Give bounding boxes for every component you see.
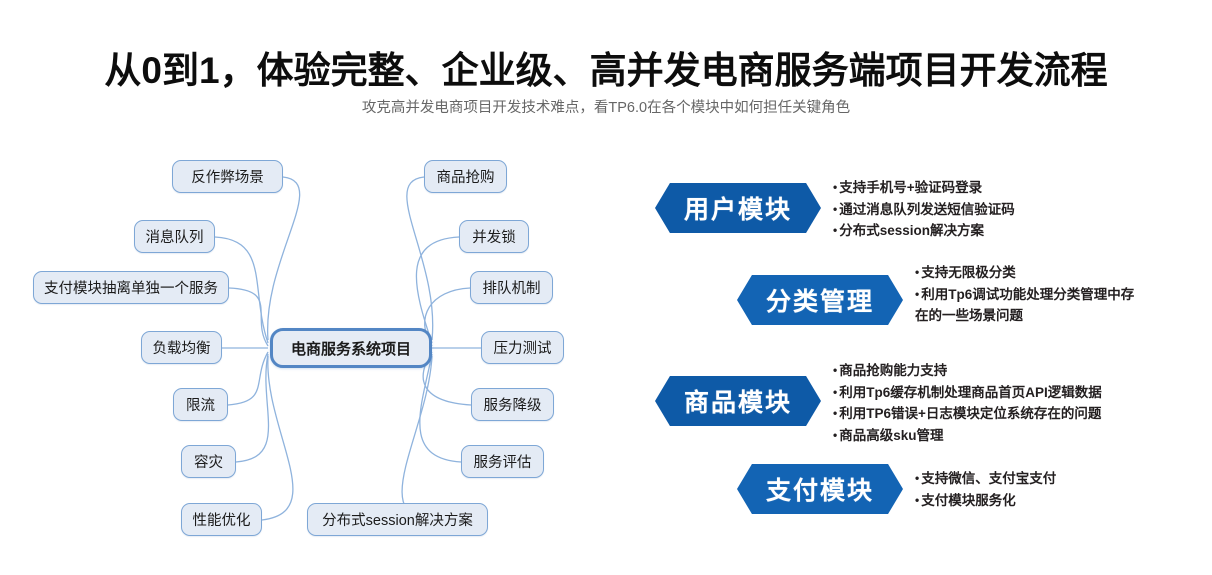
bullet-item: 分布式session解决方案: [833, 220, 1133, 242]
page-subtitle: 攻克高并发电商项目开发技术难点，看TP6.0在各个模块中如何担任关键角色: [0, 96, 1212, 117]
mindmap-node-distributed-session[interactable]: 分布式session解决方案: [307, 503, 488, 536]
bullet-item: 通过消息队列发送短信验证码: [833, 199, 1133, 221]
bullet-item: 利用Tp6缓存机制处理商品首页API逻辑数据: [833, 382, 1163, 404]
mindmap-node-service-degradation[interactable]: 服务降级: [471, 388, 554, 421]
module-category-banner[interactable]: 分类管理: [737, 275, 903, 325]
bullet-item: 商品高级sku管理: [833, 425, 1163, 447]
bullet-item: 支持手机号+验证码登录: [833, 177, 1133, 199]
bullet-item: 利用Tp6调试功能处理分类管理中存在的一些场景问题: [915, 284, 1143, 327]
module-product-banner[interactable]: 商品模块: [655, 376, 821, 426]
module-payment-bullets: 支持微信、支付宝支付 支付模块服务化: [915, 468, 1155, 511]
mindmap-node-disaster-recovery[interactable]: 容灾: [181, 445, 236, 478]
mindmap-diagram: 电商服务系统项目 反作弊场景 消息队列 支付模块抽离单独一个服务 负载均衡 限流…: [0, 140, 660, 560]
module-user-bullets: 支持手机号+验证码登录 通过消息队列发送短信验证码 分布式session解决方案: [833, 177, 1133, 242]
mindmap-node-anti-fraud[interactable]: 反作弊场景: [172, 160, 283, 193]
module-payment-banner[interactable]: 支付模块: [737, 464, 903, 514]
module-product-bullets: 商品抢购能力支持 利用Tp6缓存机制处理商品首页API逻辑数据 利用TP6错误+…: [833, 360, 1163, 446]
bullet-item: 商品抢购能力支持: [833, 360, 1163, 382]
mindmap-node-flash-sale[interactable]: 商品抢购: [424, 160, 507, 193]
module-category-bullets: 支持无限极分类 利用Tp6调试功能处理分类管理中存在的一些场景问题: [915, 262, 1143, 327]
mindmap-node-queue-mechanism[interactable]: 排队机制: [470, 271, 553, 304]
slide-canvas: 从0到1，体验完整、企业级、高并发电商服务端项目开发流程 攻克高并发电商项目开发…: [0, 0, 1212, 575]
mindmap-center-node[interactable]: 电商服务系统项目: [270, 328, 432, 368]
module-user-banner[interactable]: 用户模块: [655, 183, 821, 233]
page-title: 从0到1，体验完整、企业级、高并发电商服务端项目开发流程: [0, 40, 1212, 94]
bullet-item: 利用TP6错误+日志模块定位系统存在的问题: [833, 403, 1163, 425]
mindmap-node-stress-test[interactable]: 压力测试: [481, 331, 564, 364]
mindmap-node-rate-limit[interactable]: 限流: [173, 388, 228, 421]
bullet-item: 支付模块服务化: [915, 490, 1155, 512]
mindmap-node-concurrency-lock[interactable]: 并发锁: [459, 220, 529, 253]
mindmap-node-load-balance[interactable]: 负载均衡: [141, 331, 222, 364]
mindmap-node-service-evaluation[interactable]: 服务评估: [461, 445, 544, 478]
mindmap-node-performance-optimization[interactable]: 性能优化: [181, 503, 262, 536]
mindmap-node-message-queue[interactable]: 消息队列: [134, 220, 215, 253]
bullet-item: 支持微信、支付宝支付: [915, 468, 1155, 490]
bullet-item: 支持无限极分类: [915, 262, 1143, 284]
mindmap-node-payment-service-split[interactable]: 支付模块抽离单独一个服务: [33, 271, 229, 304]
